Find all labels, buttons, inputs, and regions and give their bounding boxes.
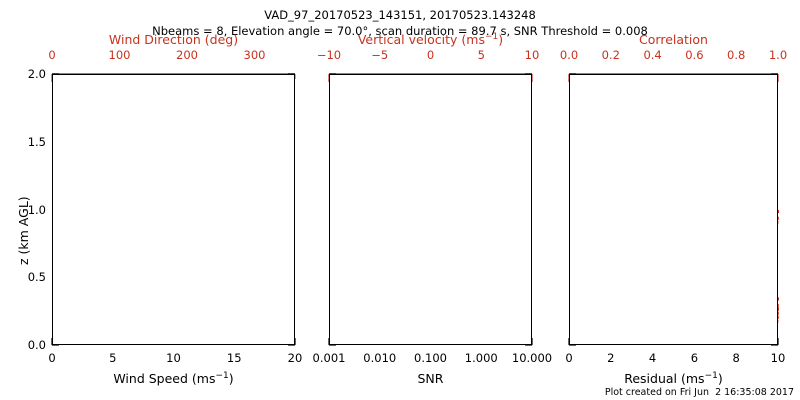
top-x-tick-label: 0	[48, 48, 55, 62]
top-x-tick-label: 200	[176, 48, 198, 62]
x-axis-title-panel-2: SNR	[329, 371, 532, 386]
top-x-tick-label: 0.0	[560, 48, 578, 62]
x-axis-title-panel-1: Wind Speed (ms−1)	[52, 371, 295, 386]
y-tick-label: 0.5	[12, 270, 46, 284]
vad-plot-figure: VAD_97_20170523_143151, 20170523.143248 …	[0, 0, 800, 400]
y-axis-title: z (km AGL)	[16, 196, 31, 265]
x-tick-label: 6	[691, 351, 698, 365]
top-axis-title-panel-2: Vertical velocity (ms−1)	[329, 32, 532, 47]
x-tick-label: 0.100	[414, 351, 447, 365]
x-tick-label: 0	[48, 351, 55, 365]
plot-created-timestamp: Plot created on Fri Jun 2 16:35:08 2017	[605, 387, 794, 398]
x-tick-label: 8	[733, 351, 740, 365]
top-x-tick-label: 1.0	[769, 48, 787, 62]
plot-panel-3	[569, 74, 778, 345]
x-tick-label: 20	[288, 351, 303, 365]
top-axis-title-panel-3: Correlation	[569, 32, 778, 47]
x-tick-label: 10	[771, 351, 786, 365]
y-tick-label: 2.0	[12, 67, 46, 81]
x-axis-title-panel-3: Residual (ms−1)	[569, 371, 778, 386]
plot-panel-1	[52, 74, 295, 345]
x-tick-label: 10.000	[512, 351, 552, 365]
x-tick-label: 0.001	[313, 351, 346, 365]
x-tick-label: 4	[649, 351, 656, 365]
x-tick-label: 5	[109, 351, 116, 365]
top-x-tick-label: 10	[525, 48, 540, 62]
x-tick-label: 15	[227, 351, 242, 365]
top-x-tick-label: 300	[244, 48, 266, 62]
x-tick-label: 1.000	[465, 351, 498, 365]
top-x-tick-label: 0.6	[685, 48, 703, 62]
top-x-tick-label: 0.4	[643, 48, 661, 62]
top-x-tick-label: −10	[317, 48, 341, 62]
top-x-tick-label: −5	[371, 48, 388, 62]
top-x-tick-label: 0.8	[727, 48, 745, 62]
top-axis-title-panel-1: Wind Direction (deg)	[52, 32, 295, 47]
top-x-tick-label: 5	[478, 48, 485, 62]
top-x-tick-label: 0	[427, 48, 434, 62]
y-tick-label: 0.0	[12, 338, 46, 352]
y-tick-label: 1.5	[12, 135, 46, 149]
top-x-tick-label: 0.2	[602, 48, 620, 62]
x-tick-label: 0	[565, 351, 572, 365]
x-tick-label: 10	[166, 351, 181, 365]
x-tick-label: 0.010	[363, 351, 396, 365]
plot-panel-2	[329, 74, 532, 345]
figure-title: VAD_97_20170523_143151, 20170523.143248	[0, 8, 800, 22]
top-x-tick-label: 100	[109, 48, 131, 62]
x-tick-label: 2	[607, 351, 614, 365]
